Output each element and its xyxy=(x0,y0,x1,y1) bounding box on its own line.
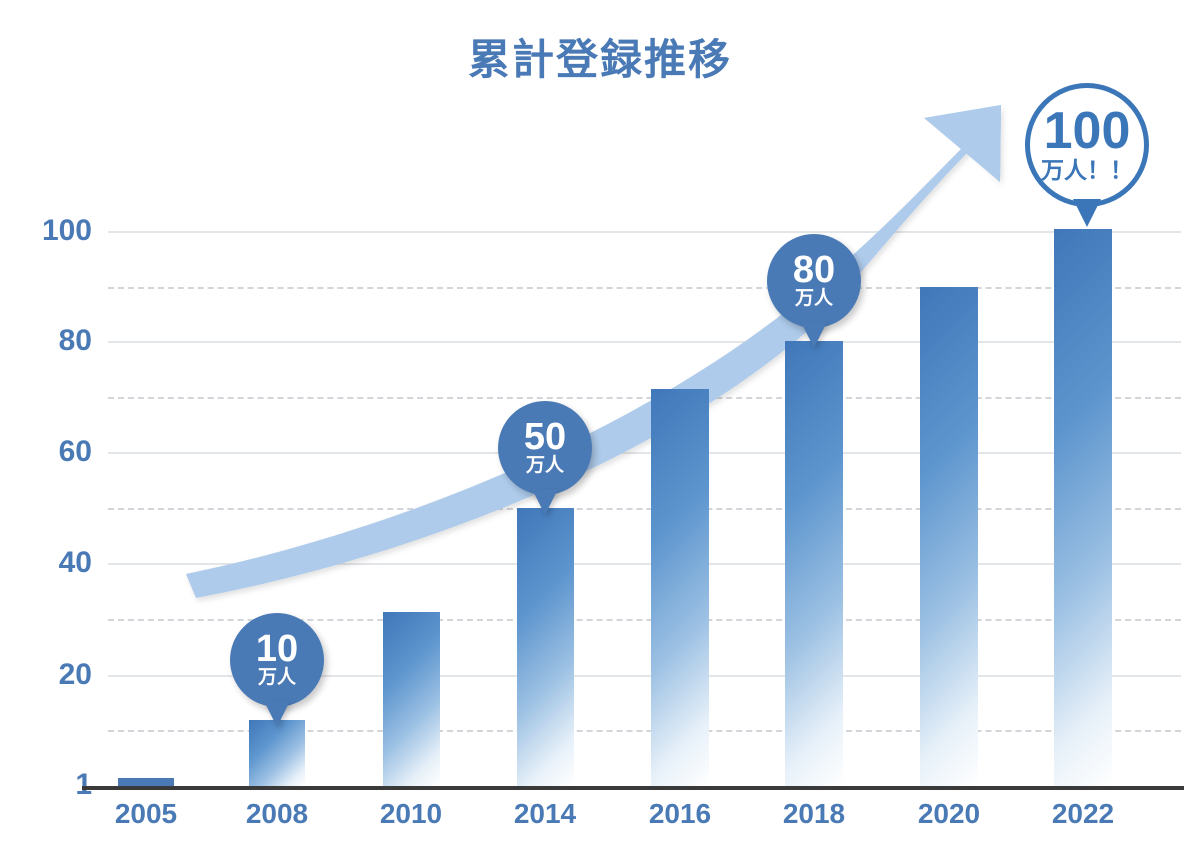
x-axis-label-2018: 2018 xyxy=(744,798,884,830)
gridline-60 xyxy=(108,452,1181,454)
gridline-90 xyxy=(108,287,1181,289)
bar-2010 xyxy=(383,612,440,786)
gridline-80 xyxy=(108,341,1181,343)
callout-bubble-2008: 10 万人 xyxy=(230,613,324,707)
gridline-50 xyxy=(108,508,1181,510)
y-axis-label-40: 40 xyxy=(12,548,92,578)
bar-2020 xyxy=(920,287,978,786)
callout-unit-2008: 万人 xyxy=(258,668,296,689)
gridline-100 xyxy=(108,231,1181,233)
bar-2016 xyxy=(651,389,709,786)
callout-value-2022: 100 xyxy=(1044,107,1131,156)
x-axis-label-2005: 2005 xyxy=(76,798,216,830)
bar-2022 xyxy=(1054,229,1112,786)
x-axis-label-2020: 2020 xyxy=(879,798,1019,830)
callout-bubble-2014: 50 万人 xyxy=(498,401,592,495)
y-axis-label-60: 60 xyxy=(12,437,92,467)
callout-tail-icon xyxy=(532,489,558,515)
plot-area: 100 80 60 40 20 1 2005 xyxy=(0,0,1200,852)
callout-bubble-2018: 80 万人 xyxy=(767,234,861,328)
callout-unit-2014: 万人 xyxy=(526,456,564,477)
callout-tail-icon xyxy=(801,322,827,348)
x-axis-label-2016: 2016 xyxy=(610,798,750,830)
callout-unit-2022: 万人！！ xyxy=(1041,158,1133,183)
x-axis-line xyxy=(82,786,1184,790)
callout-bubble-2022: 100 万人！！ xyxy=(1025,83,1149,207)
y-axis-label-20: 20 xyxy=(12,660,92,690)
bar-2008 xyxy=(249,720,305,786)
bar-2018 xyxy=(785,341,843,786)
bar-2005 xyxy=(118,778,174,786)
x-axis-label-2014: 2014 xyxy=(475,798,615,830)
chart-page: 累計登録推移 100 80 60 40 20 1 xyxy=(0,0,1200,852)
y-axis-label-1: 1 xyxy=(12,770,92,800)
growth-arrow-icon xyxy=(0,0,1200,852)
y-axis-label-100: 100 xyxy=(12,216,92,246)
x-axis-label-2008: 2008 xyxy=(207,798,347,830)
gridline-40 xyxy=(108,563,1181,565)
bar-2014 xyxy=(517,508,574,786)
y-axis-label-80: 80 xyxy=(12,326,92,356)
x-axis-label-2022: 2022 xyxy=(1013,798,1153,830)
callout-tail-icon xyxy=(264,701,290,727)
x-axis-label-2010: 2010 xyxy=(341,798,481,830)
callout-unit-2018: 万人 xyxy=(795,289,833,310)
callout-value-2008: 10 xyxy=(256,631,298,667)
callout-tail-icon xyxy=(1073,199,1101,227)
callout-value-2014: 50 xyxy=(524,419,566,455)
gridline-70 xyxy=(108,397,1181,399)
callout-value-2018: 80 xyxy=(793,252,835,288)
